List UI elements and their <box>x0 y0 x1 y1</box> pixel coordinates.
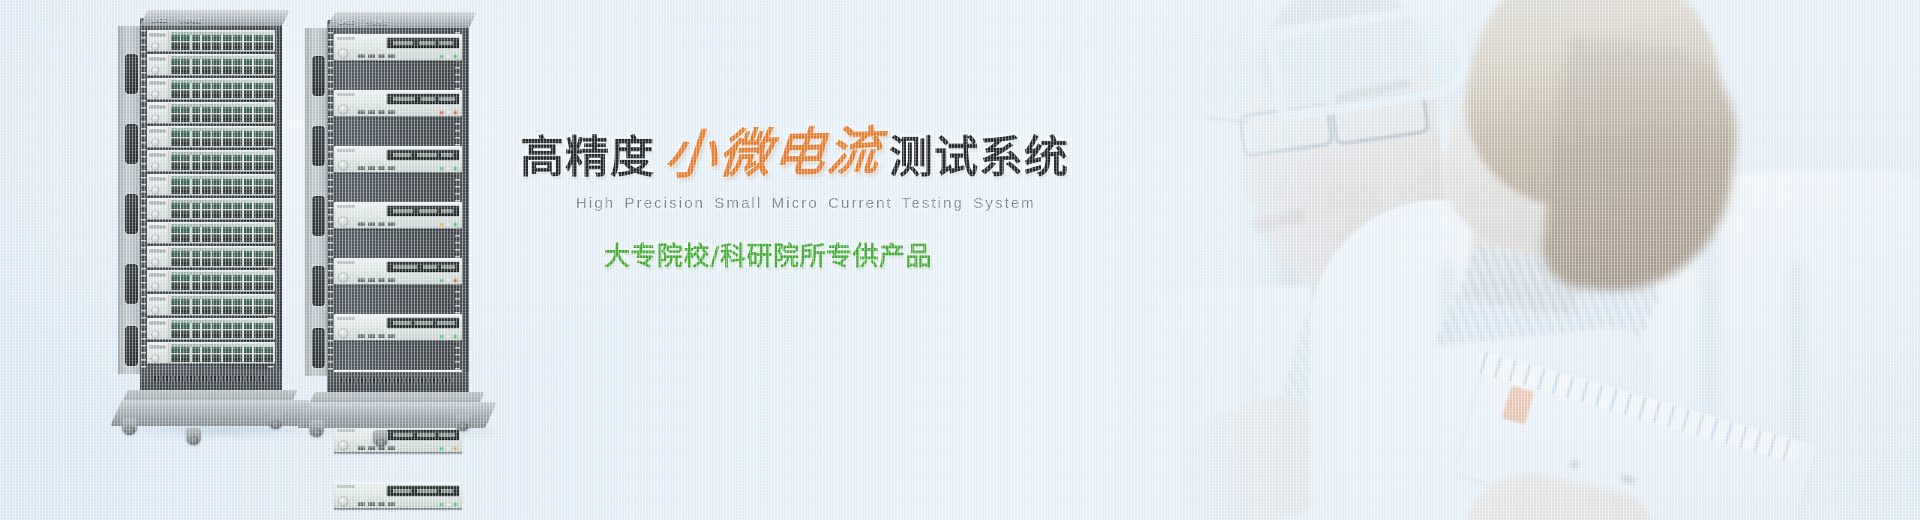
rack-model-name: 小微电流 <box>367 19 389 26</box>
unit-label <box>149 153 166 157</box>
channel-strip <box>171 152 273 155</box>
instrument-button-row <box>358 446 395 450</box>
unit-left-controls <box>147 247 169 267</box>
rack-instrument <box>334 146 462 173</box>
channel-row <box>171 90 273 98</box>
rack-instrument <box>334 314 462 341</box>
channel-area <box>169 31 275 51</box>
rack-brand-name: LAGE <box>339 20 355 26</box>
rack-unit <box>147 54 275 76</box>
unit-knob <box>152 115 159 122</box>
unit-knob <box>152 259 159 266</box>
multi-channel-test-rack: LAGE 小微电流 <box>118 18 308 418</box>
headline-highlight: 小微电流 <box>663 126 884 183</box>
instrument-button-row <box>358 166 395 170</box>
channel-strip <box>171 80 273 83</box>
banner-copy: 高精度 小微电流 测试系统 High Precision Small Micro… <box>520 128 1040 273</box>
instrument-brand-strip <box>337 485 355 488</box>
unit-left-controls <box>147 343 169 363</box>
unit-left-controls <box>147 319 169 339</box>
channel-area <box>169 103 275 123</box>
unit-label <box>149 321 166 325</box>
rack-unit <box>147 198 275 220</box>
channel-strip <box>171 296 273 299</box>
channel-area <box>169 79 275 99</box>
channel-strip <box>171 56 273 59</box>
rack-caster <box>309 420 324 437</box>
instrument-dial <box>339 105 348 114</box>
unit-knob <box>152 67 159 74</box>
rail-cutout <box>125 326 138 366</box>
unit-knob <box>152 91 159 98</box>
instrument-button-row <box>358 54 395 58</box>
unit-knob <box>152 355 159 362</box>
instrument-dial <box>339 273 348 282</box>
rack-caster <box>268 412 283 429</box>
rack-unit <box>147 150 275 172</box>
instrument-display <box>387 94 459 104</box>
instrument-brand-strip <box>337 261 355 264</box>
rack-instrument <box>334 258 462 285</box>
instrument-display <box>387 430 459 440</box>
channel-area <box>169 223 275 243</box>
instrument-display <box>387 262 459 272</box>
instrument-racks: LAGE 小微电流 <box>0 0 520 520</box>
unit-knob <box>152 331 159 338</box>
channel-strip <box>171 248 273 251</box>
instrument-brand-strip <box>337 429 355 432</box>
headline-suffix: 测试系统 <box>889 136 1069 180</box>
unit-label <box>149 225 166 229</box>
rack-screw-rail-left <box>141 30 146 374</box>
rack-vent <box>154 376 266 381</box>
channel-strip <box>171 320 273 323</box>
instrument-display <box>387 486 459 496</box>
rail-cutout <box>125 124 138 164</box>
instrument-leds <box>440 111 458 115</box>
instrument-rack: LAGE 小微电流 <box>305 20 495 420</box>
rail-cutout <box>125 54 138 94</box>
channel-area <box>169 319 275 339</box>
channel-row <box>171 258 273 266</box>
instrument-display <box>387 150 459 160</box>
channel-row <box>171 66 273 74</box>
channel-area <box>169 247 275 267</box>
rack-unit <box>147 102 275 124</box>
channel-row <box>171 138 273 146</box>
channel-area <box>169 295 275 315</box>
rack-vent <box>341 378 453 383</box>
instrument-leds <box>440 503 458 507</box>
channel-row <box>171 234 273 242</box>
channel-row <box>171 210 273 218</box>
channel-row <box>171 330 273 338</box>
photo-vertical-fade <box>1020 0 1920 520</box>
channel-row <box>171 186 273 194</box>
unit-knob <box>152 307 159 314</box>
instrument-dial <box>339 497 348 506</box>
unit-left-controls <box>147 79 169 99</box>
unit-left-controls <box>147 103 169 123</box>
unit-knob <box>152 235 159 242</box>
unit-label <box>149 345 166 349</box>
instrument-button-row <box>358 222 395 226</box>
instrument-brand-strip <box>337 205 355 208</box>
instrument-display <box>387 38 459 48</box>
channel-strip <box>171 272 273 275</box>
rack-unit <box>147 222 275 244</box>
rack-caster <box>373 430 388 447</box>
rail-cutout <box>312 126 325 166</box>
channel-strip <box>171 200 273 203</box>
rack-unit <box>147 270 275 292</box>
unit-knob <box>152 139 159 146</box>
instrument-display <box>387 206 459 216</box>
unit-left-controls <box>147 271 169 291</box>
unit-left-controls <box>147 127 169 147</box>
rack-caster <box>122 418 137 435</box>
banner-headline: 高精度 小微电流 测试系统 <box>520 128 1040 180</box>
rack-unit <box>147 30 275 52</box>
unit-label <box>149 33 166 37</box>
instrument-brand-strip <box>337 317 355 320</box>
unit-knob <box>152 283 159 290</box>
rail-cutout <box>125 194 138 234</box>
channel-strip <box>171 128 273 131</box>
instrument-button-row <box>358 502 395 506</box>
channel-strip <box>171 104 273 107</box>
unit-left-controls <box>147 295 169 315</box>
rack-brand-label: LAGE 小微电流 <box>339 17 461 28</box>
unit-left-controls <box>147 199 169 219</box>
channel-area <box>169 199 275 219</box>
unit-left-controls <box>147 31 169 51</box>
instrument-brand-strip <box>337 37 355 40</box>
channel-row <box>171 42 273 50</box>
instrument-dial <box>339 329 348 338</box>
rail-cutout <box>312 196 325 236</box>
unit-label <box>149 177 166 181</box>
channel-area <box>169 127 275 147</box>
rack-caster <box>455 414 470 431</box>
instrument-button-row <box>358 334 395 338</box>
channel-area <box>169 343 275 363</box>
unit-knob <box>152 187 159 194</box>
instrument-dial <box>339 161 348 170</box>
channel-strip <box>171 176 273 179</box>
instrument-leds <box>440 167 458 171</box>
unit-label <box>149 273 166 277</box>
instrument-leds <box>440 55 458 59</box>
rail-cutout <box>312 266 325 306</box>
instrument-dial <box>339 49 348 58</box>
rack-brand-label: LAGE 小微电流 <box>152 15 274 26</box>
unit-label <box>149 129 166 133</box>
unit-label <box>149 201 166 205</box>
rack-instrument <box>334 426 462 453</box>
unit-knob <box>152 163 159 170</box>
banner-subtitle: High Precision Small Micro Current Testi… <box>520 195 1040 212</box>
unit-label <box>149 81 166 85</box>
banner-tagline: 大专院校/科研院所专供产品 <box>520 236 1040 273</box>
channel-row <box>171 162 273 170</box>
rail-cutout <box>312 328 325 368</box>
rack-unit <box>147 126 275 148</box>
channel-strip <box>171 344 273 347</box>
headline-prefix: 高精度 <box>520 136 655 180</box>
rail-cutout <box>125 264 138 304</box>
channel-row <box>171 354 273 362</box>
instrument-dial <box>339 441 348 450</box>
unit-label <box>149 249 166 253</box>
instrument-dial <box>339 217 348 226</box>
unit-knob <box>152 211 159 218</box>
unit-label <box>149 105 166 109</box>
promo-banner: LAGE 小微电流 <box>0 0 1920 520</box>
unit-left-controls <box>147 55 169 75</box>
rack-instrument <box>334 482 462 509</box>
channel-row <box>171 282 273 290</box>
rack-brand-name: LAGE <box>152 18 168 24</box>
rack-instrument <box>334 90 462 117</box>
channel-row <box>171 306 273 314</box>
rack-instrument <box>334 34 462 61</box>
rack-unit <box>147 318 275 340</box>
unit-label <box>149 297 166 301</box>
rack-caster <box>186 428 201 445</box>
instrument-leds <box>440 223 458 227</box>
instrument-brand-strip <box>337 93 355 96</box>
rack-unit <box>147 294 275 316</box>
channel-row <box>171 114 273 122</box>
unit-left-controls <box>147 175 169 195</box>
rack-unit <box>147 78 275 100</box>
instrument-button-row <box>358 110 395 114</box>
unit-knob <box>152 43 159 50</box>
rack-model-name: 小微电流 <box>180 17 202 24</box>
unit-label <box>149 57 166 61</box>
rack-unit <box>147 246 275 268</box>
instrument-leds <box>440 335 458 339</box>
channel-strip <box>171 224 273 227</box>
unit-left-controls <box>147 151 169 171</box>
instrument-display <box>387 318 459 328</box>
rack-unit <box>147 342 275 364</box>
rail-cutout <box>312 56 325 96</box>
channel-strip <box>171 32 273 35</box>
instrument-leds <box>440 447 458 451</box>
instrument-brand-strip <box>337 149 355 152</box>
channel-area <box>169 271 275 291</box>
channel-area <box>169 55 275 75</box>
channel-area <box>169 151 275 171</box>
lab-researchers-photo <box>1020 0 1920 520</box>
unit-left-controls <box>147 223 169 243</box>
instrument-leds <box>440 279 458 283</box>
rack-screw-rail-left <box>328 32 333 376</box>
instrument-button-row <box>358 278 395 282</box>
rack-unit <box>147 174 275 196</box>
channel-area <box>169 175 275 195</box>
rack-instrument <box>334 202 462 229</box>
